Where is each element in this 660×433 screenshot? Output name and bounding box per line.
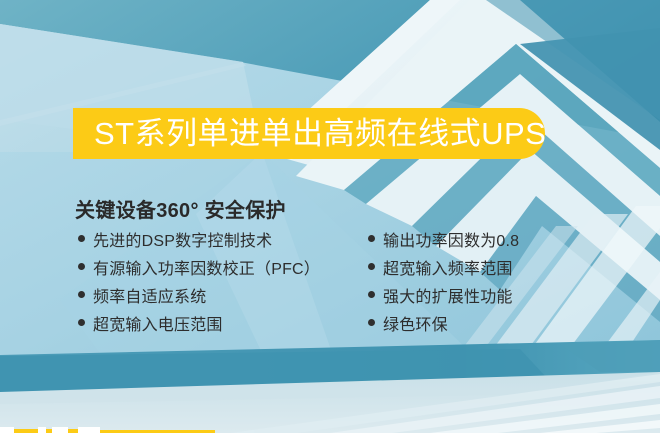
bullet-dot-icon xyxy=(78,263,85,270)
bullet-dot-icon xyxy=(368,263,375,270)
bullet-dot-icon xyxy=(368,319,375,326)
bottom-cropped-decoration xyxy=(0,427,215,433)
subheading: 关键设备360° 安全保护 xyxy=(75,194,286,223)
feature-label: 输出功率因数为0.8 xyxy=(383,227,519,251)
feature-label: 先进的DSP数字控制技术 xyxy=(93,227,272,251)
feature-item: 频率自适应系统 xyxy=(78,283,368,311)
bullet-dot-icon xyxy=(368,291,375,298)
product-title: ST系列单进单出高频在线式UPS xyxy=(94,118,546,149)
ups-product-banner: ST系列单进单出高频在线式UPS 关键设备360° 安全保护 先进的DSP数字控… xyxy=(0,0,660,433)
feature-item: 强大的扩展性功能 xyxy=(368,283,618,311)
feature-label: 绿色环保 xyxy=(383,311,448,335)
feature-item: 输出功率因数为0.8 xyxy=(368,227,618,255)
feature-list: 先进的DSP数字控制技术 有源输入功率因数校正（PFC） 频率自适应系统 超宽输… xyxy=(78,227,618,339)
feature-column-left: 先进的DSP数字控制技术 有源输入功率因数校正（PFC） 频率自适应系统 超宽输… xyxy=(78,227,368,339)
feature-label: 强大的扩展性功能 xyxy=(383,283,513,307)
product-title-pill: ST系列单进单出高频在线式UPS xyxy=(73,108,545,159)
feature-item: 先进的DSP数字控制技术 xyxy=(78,227,368,255)
feature-label: 有源输入功率因数校正（PFC） xyxy=(93,255,320,279)
bullet-dot-icon xyxy=(78,291,85,298)
bullet-dot-icon xyxy=(78,319,85,326)
feature-item: 超宽输入频率范围 xyxy=(368,255,618,283)
feature-label: 超宽输入频率范围 xyxy=(383,255,513,279)
feature-item: 有源输入功率因数校正（PFC） xyxy=(78,255,368,283)
feature-item: 超宽输入电压范围 xyxy=(78,311,368,339)
feature-label: 频率自适应系统 xyxy=(93,283,206,307)
feature-label: 超宽输入电压范围 xyxy=(93,311,223,335)
bullet-dot-icon xyxy=(368,235,375,242)
feature-column-right: 输出功率因数为0.8 超宽输入频率范围 强大的扩展性功能 绿色环保 xyxy=(368,227,618,339)
feature-item: 绿色环保 xyxy=(368,311,618,339)
bullet-dot-icon xyxy=(78,235,85,242)
